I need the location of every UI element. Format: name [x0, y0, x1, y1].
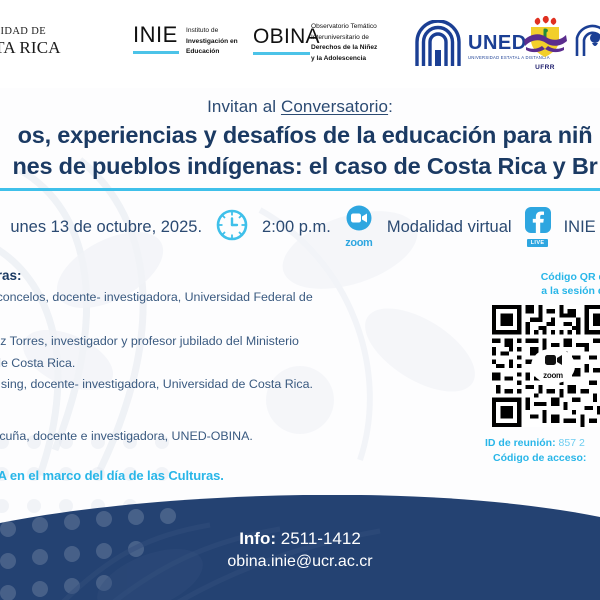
qr-panel: Código QR de ac a la sesión de zo [475, 270, 600, 466]
speakers-block: s expositoras: Colares Vasconcelos, doce… [0, 268, 460, 398]
qr-meta: ID de reunión: 857 2 Código de acceso: [485, 436, 600, 466]
ufrr-crest-icon [522, 45, 568, 62]
qr-title-line2: a la sesión de zo [493, 284, 600, 298]
inie-desc1: Instituto de [186, 26, 238, 37]
logo-ucr: VERSIDAD DE OSTA RICA [0, 26, 112, 58]
list-item: Brasil. [0, 311, 460, 329]
event-poster: VERSIDAD DE OSTA RICA INIE Instituto de … [0, 0, 600, 600]
ucr-line1: VERSIDAD DE [0, 26, 112, 37]
inie-wordmark: INIE [133, 24, 179, 46]
obina-descriptor: Observatorio Temático Interuniversitario… [311, 22, 377, 65]
obina-desc1: Observatorio Temático [311, 22, 377, 33]
invitation-highlight: Conversatorio [281, 97, 388, 116]
zoom-badge: zoom [344, 205, 374, 249]
qr-title: Código QR de ac a la sesión de zo [493, 270, 600, 298]
obina-rule [253, 52, 310, 55]
zoom-camera-icon [344, 205, 374, 236]
page-title: os, experiencias y desafíos de la educac… [0, 120, 600, 182]
logo-inie: INIE Instituto de Investigación en Educa… [133, 24, 238, 58]
moderator-block: ana Torres Acuña, docente e investigador… [0, 428, 460, 446]
meeting-id-value: 857 2 [559, 437, 585, 449]
footer-phone-row: Info: 2511-1412 [0, 529, 600, 549]
facebook-live-badge: LIVE [525, 207, 551, 247]
title-line-2: nes de pueblos indígenas: el caso de Cos… [0, 151, 600, 182]
uned-arch-icon [412, 20, 464, 73]
qr-zoom-overlay: zoom [531, 349, 575, 383]
obina-wordmark: OBINA [253, 26, 320, 47]
passcode-label: Código de acceso: [493, 452, 586, 464]
facebook-page-name: INIE [564, 218, 596, 237]
footer-info-label: Info: [239, 529, 276, 548]
inie-desc2: Investigación en [186, 38, 238, 45]
facebook-icon [525, 207, 551, 238]
qr-zoom-word: zoom [543, 371, 563, 380]
clock-icon [215, 208, 249, 247]
moderator-text: ana Torres Acuña, docente e investigador… [0, 428, 460, 446]
obina-desc4: y la Adolescencia [311, 55, 366, 62]
facebook-live-label: LIVE [527, 239, 549, 247]
event-date: unes 13 de octubre, 2025. [10, 218, 202, 237]
logo-obina: OBINA [253, 26, 320, 55]
logo-ufrr: UFRR [522, 16, 568, 71]
meeting-id-row: ID de reunión: 857 2 [485, 436, 600, 451]
zoom-wordmark: zoom [345, 237, 372, 249]
event-modality: Modalidad virtual [387, 218, 512, 237]
list-item: nne Müller-Using, docente- investigadora… [0, 376, 460, 394]
list-item: ión Pública de Costa Rica. [0, 355, 460, 373]
ucr-line2: OSTA RICA [0, 38, 112, 58]
invitation-colon: : [388, 97, 393, 116]
speakers-list: Colares Vasconcelos, docente- investigad… [0, 289, 460, 394]
footer-email[interactable]: obina.inie@ucr.ac.cr [0, 553, 600, 571]
organizer-note: o por OBINA en el marco del día de las C… [0, 468, 490, 483]
footer-band: Info: 2511-1412 obina.inie@ucr.ac.cr [0, 495, 600, 600]
speakers-heading: s expositoras: [0, 268, 460, 283]
qr-title-line1: Código QR de ac [493, 270, 600, 284]
obina-desc3: Derechos de la Niñez [311, 44, 377, 51]
event-meta-row: unes 13 de octubre, 2025. 2:00 p.m. [0, 205, 600, 249]
inie-rule [133, 51, 179, 54]
invitation-lead: Invitan al [207, 97, 281, 116]
title-line-1: os, experiencias y desafíos de la educac… [0, 120, 600, 151]
list-item: no Fernández Torres, investigador y prof… [0, 333, 460, 351]
inie-descriptor: Instituto de Investigación en Educación [186, 24, 238, 58]
zoom-camera-icon-small [545, 353, 562, 371]
cyan-divider [0, 188, 600, 191]
inie-mark: INIE [133, 24, 179, 54]
ufrr-caption: UFRR [522, 64, 568, 71]
footer-contact: Info: 2511-1412 obina.inie@ucr.ac.cr [0, 529, 600, 571]
inie-desc3: Educación [186, 48, 219, 55]
list-item: Colares Vasconcelos, docente- investigad… [0, 289, 460, 307]
invitation-line: Invitan al Conversatorio: [0, 97, 600, 117]
obina-desc2: Interuniversitario de [311, 33, 377, 44]
footer-phone[interactable]: 2511-1412 [281, 529, 361, 548]
passcode-row: Código de acceso: [493, 451, 600, 466]
logo-partner-partial [575, 22, 600, 65]
event-time: 2:00 p.m. [262, 218, 331, 237]
meeting-id-label: ID de reunión: [485, 437, 556, 449]
qr-code[interactable]: zoom [492, 305, 600, 427]
logo-strip: VERSIDAD DE OSTA RICA INIE Instituto de … [0, 0, 600, 88]
